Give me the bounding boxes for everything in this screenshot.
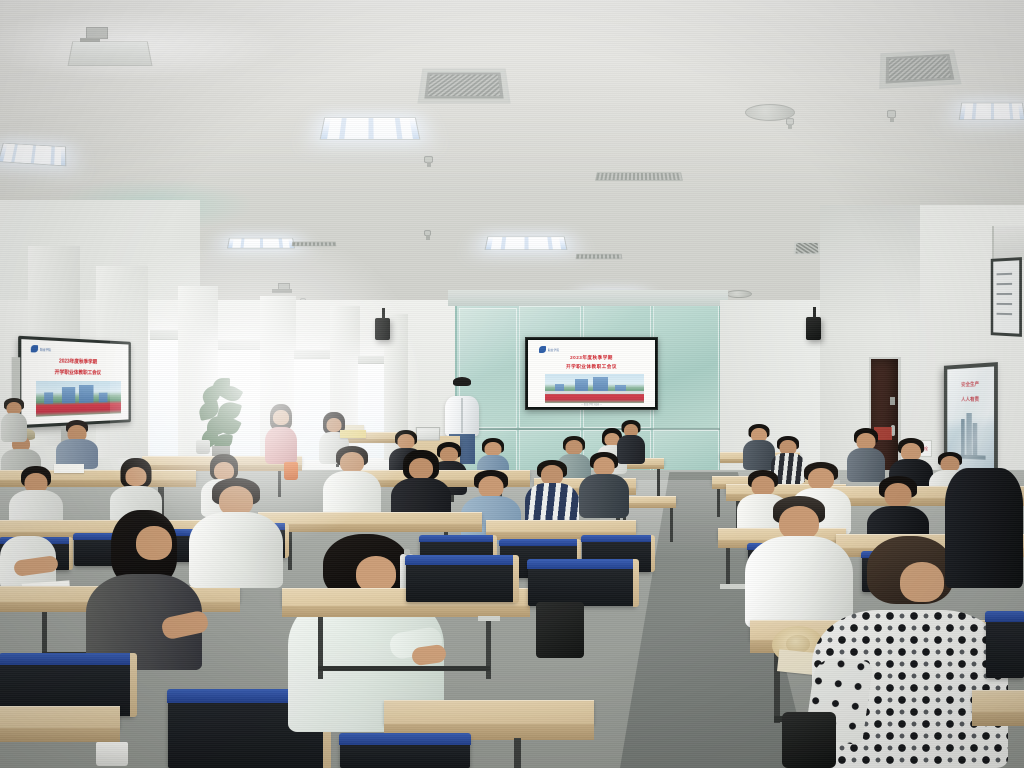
institution-logo: 职业学院 [31, 345, 51, 353]
logo-text: 职业学院 [548, 348, 559, 352]
presentation-slide: 职业学院 2023年度秋季学期 开学职业体教职工会议 — 职业学院 校园 — [528, 340, 655, 407]
ceiling-speaker [726, 290, 752, 298]
paper-cup [284, 462, 298, 480]
linear-strip-vent [595, 172, 683, 180]
framed-wall-notice [991, 257, 1022, 337]
logo-mark-icon [31, 345, 38, 353]
window-blind-valance [294, 350, 332, 359]
handbag [536, 602, 584, 658]
window-blind-valance [218, 340, 262, 350]
recessed-light-panel [227, 238, 295, 249]
attendee [0, 516, 56, 590]
slide-campus-photo [545, 374, 644, 403]
paper-cup [196, 440, 210, 454]
attendee [944, 468, 1024, 588]
paper-cup [96, 742, 128, 766]
attendee [322, 446, 382, 520]
institution-logo: 职业学院 [539, 346, 559, 353]
meeting-room-photo: 职业学院 2023年度秋季学期 开学职业体教职工会议 [0, 0, 1024, 768]
recessed-light-panel [320, 117, 421, 139]
slide-caption: — 职业学院 校园 — [528, 402, 655, 406]
slide-title-line1: 2023年度秋季学期 [21, 356, 128, 366]
fire-sprinkler [786, 118, 794, 125]
attendee [578, 452, 630, 518]
chair[interactable] [528, 560, 636, 606]
chair[interactable] [340, 734, 470, 768]
attendee [188, 478, 284, 588]
slide-campus-photo [36, 381, 121, 417]
window [150, 338, 180, 456]
chair[interactable] [406, 556, 516, 602]
recessed-light-panel [485, 236, 568, 250]
projection-screen[interactable]: 职业学院 2023年度秋季学期 开学职业体教职工会议 — 职业学院 校园 — [525, 337, 658, 410]
display-screen: 职业学院 2023年度秋季学期 开学职业体教职工会议 [21, 339, 128, 425]
desk-row-b-center-right [486, 520, 636, 532]
fire-sprinkler [887, 110, 896, 118]
desk-document [340, 430, 366, 438]
wall-shading [820, 205, 920, 325]
desk-row-d-left [0, 706, 120, 728]
attendee [0, 398, 28, 442]
wall-notice-frame [992, 226, 1024, 260]
perforated-exhaust-vent [793, 242, 820, 255]
window-blind-valance [358, 356, 386, 364]
attendee [264, 404, 298, 464]
linear-strip-vent [576, 254, 623, 259]
desk-row-b-center [258, 512, 482, 524]
desk-row-d-center [384, 700, 594, 724]
slide-title-line2: 开学职业体教职工会议 [21, 368, 128, 376]
door-plate [890, 397, 895, 405]
wall-speaker [375, 318, 390, 340]
logo-mark-icon [539, 346, 546, 353]
presenter-hair [453, 377, 471, 386]
recessed-light-panel [0, 143, 66, 166]
front-wall-header-band [448, 290, 728, 306]
attendee-grey-shirt-foreground-left [84, 510, 204, 670]
slide-title-line2: 开学职业体教职工会议 [528, 364, 655, 370]
attendee-seat-shadow [782, 712, 836, 768]
window-blind-valance [150, 330, 180, 340]
window [358, 362, 386, 458]
projector-mount-icon [278, 283, 290, 290]
ceiling-diffuser-panel [67, 41, 152, 66]
desk-row-d-right [972, 690, 1024, 712]
slide-title-line1: 2023年度秋季学期 [528, 355, 655, 361]
logo-text: 职业学院 [40, 347, 51, 352]
wall-mounted-display[interactable]: 职业学院 2023年度秋季学期 开学职业体教职工会议 [18, 336, 131, 429]
presenter-shirt-placket [461, 398, 463, 433]
fire-sprinkler [424, 230, 431, 236]
square-diffuser-air-vent [879, 50, 961, 89]
chair[interactable] [986, 612, 1024, 678]
square-diffuser-air-vent [417, 68, 510, 103]
notice-content [993, 260, 1019, 333]
linear-strip-vent [292, 242, 337, 246]
fire-sprinkler [424, 156, 433, 163]
projector-mount-icon [86, 27, 108, 39]
attendee [846, 428, 886, 482]
recessed-light-panel [959, 103, 1024, 120]
wall-speaker [806, 317, 821, 340]
attendee [55, 420, 99, 468]
